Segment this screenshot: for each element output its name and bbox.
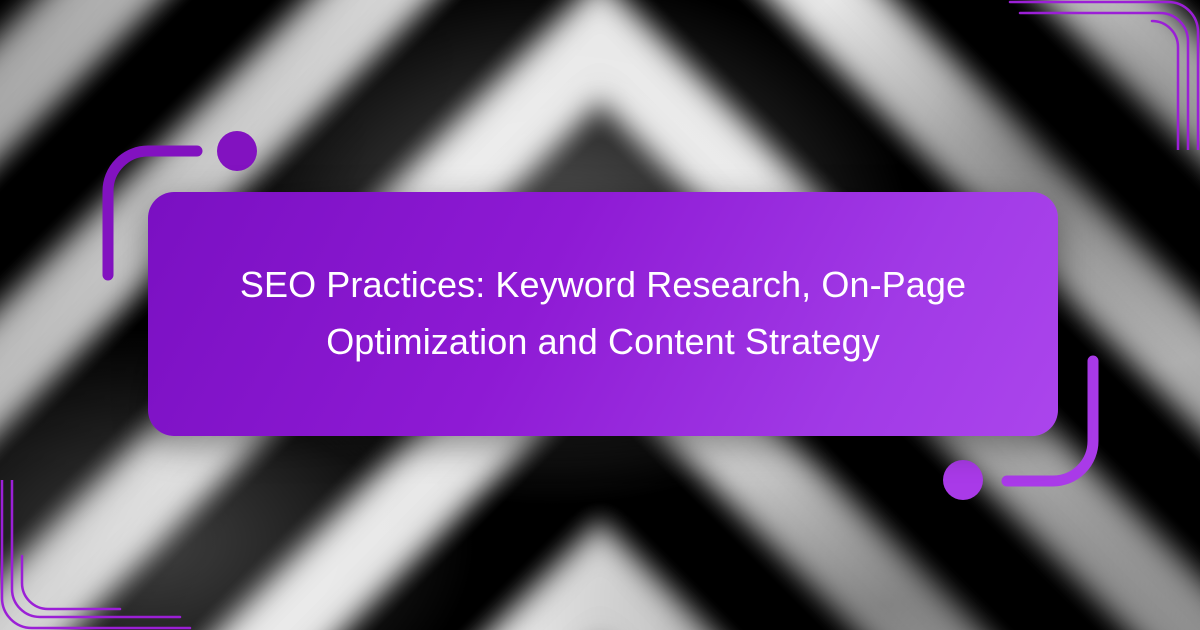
accent-dot-bottom-right-icon	[943, 460, 983, 500]
accent-dot-top-left-icon	[217, 131, 257, 171]
title-card: SEO Practices: Keyword Research, On-Page…	[148, 192, 1058, 436]
page-title: SEO Practices: Keyword Research, On-Page…	[233, 257, 973, 371]
social-card-canvas: SEO Practices: Keyword Research, On-Page…	[0, 0, 1200, 630]
